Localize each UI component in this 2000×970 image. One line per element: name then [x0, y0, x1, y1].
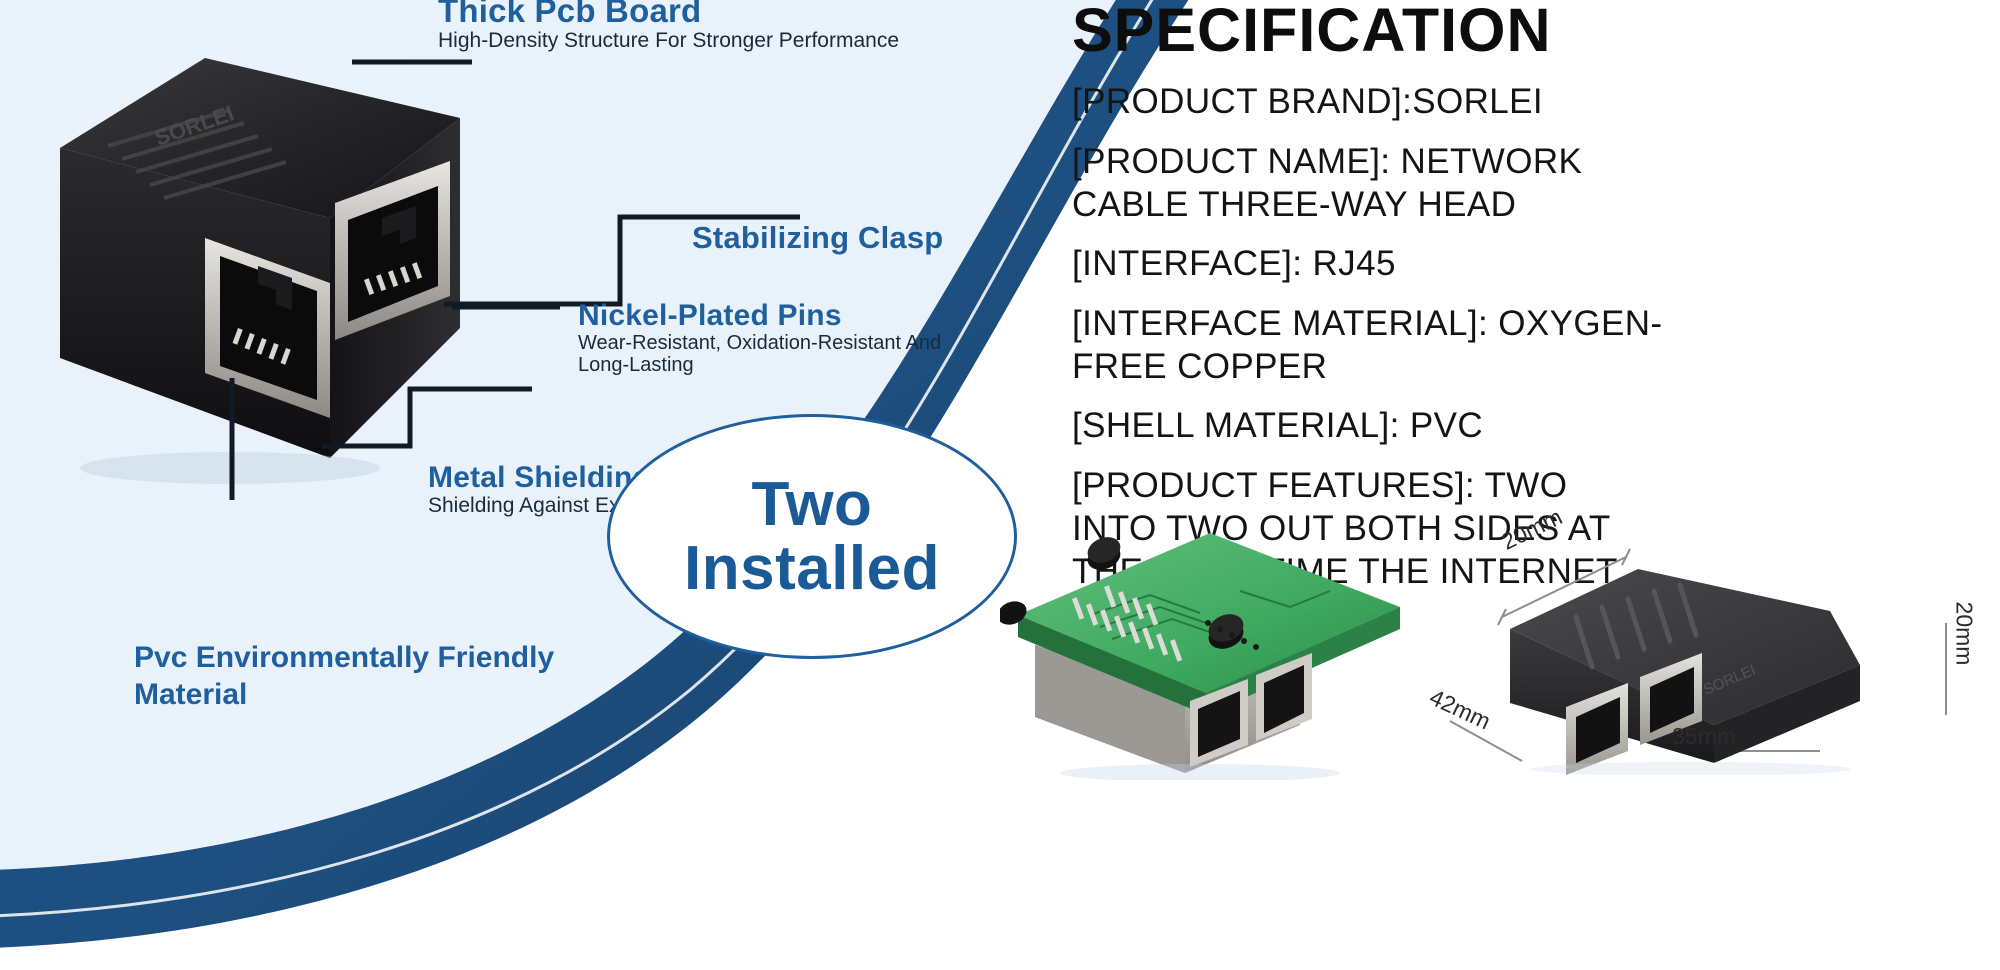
pcb-board-photo: [1000, 495, 1420, 780]
specification-heading: SPECIFICATION: [1072, 0, 2000, 64]
callout-title-line2: Material: [134, 677, 734, 714]
rj45-splitter-photo: SORLEI: [30, 28, 510, 498]
dimension-right-label: 20mm: [1950, 602, 1977, 666]
two-installed-badge: TwoInstalled: [607, 414, 1017, 659]
spec-product-brand: [PRODUCT BRAND]:SORLEI: [1072, 81, 2000, 124]
callout-title: Stabilizing Clasp: [692, 222, 1112, 255]
callout-title-line1: Pvc Environmentally Friendly: [134, 640, 734, 677]
callout-title: Nickel-Plated Pins: [578, 300, 1138, 332]
callout-nickel-plated-pins: Nickel-Plated Pins Wear-Resistant, Oxida…: [578, 300, 1138, 377]
callout-subtitle-line2: Long-Lasting: [578, 354, 1138, 377]
callout-subtitle: High-Density Structure For Stronger Perf…: [438, 29, 998, 53]
callout-subtitle-line1: Wear-Resistant, Oxidation-Resistant And: [578, 332, 1138, 355]
spec-interface-material-cont: FREE COPPER: [1072, 346, 2000, 389]
callout-stabilizing-clasp: Stabilizing Clasp: [692, 222, 1112, 255]
spec-product-name-cont: CABLE THREE-WAY HEAD: [1072, 184, 2000, 227]
spec-interface-material: [INTERFACE MATERIAL]: OXYGEN-: [1072, 303, 2000, 346]
badge-line1: Two: [752, 470, 873, 539]
callout-title: Thick Pcb Board: [438, 0, 998, 29]
infographic-canvas: SORLEI: [0, 0, 2000, 970]
spec-shell-material: [SHELL MATERIAL]: PVC: [1072, 405, 2000, 448]
badge-text: TwoInstalled: [684, 473, 940, 599]
dimension-bottom-label: 35mm: [1672, 723, 1736, 750]
callout-pvc-material: Pvc Environmentally Friendly Material: [134, 640, 734, 713]
callout-thick-pcb-board: Thick Pcb Board High-Density Structure F…: [438, 0, 998, 53]
badge-line2: Installed: [684, 534, 940, 603]
spec-product-name: [PRODUCT NAME]: NETWORK: [1072, 141, 2000, 184]
spec-interface: [INTERFACE]: RJ45: [1072, 243, 2000, 286]
